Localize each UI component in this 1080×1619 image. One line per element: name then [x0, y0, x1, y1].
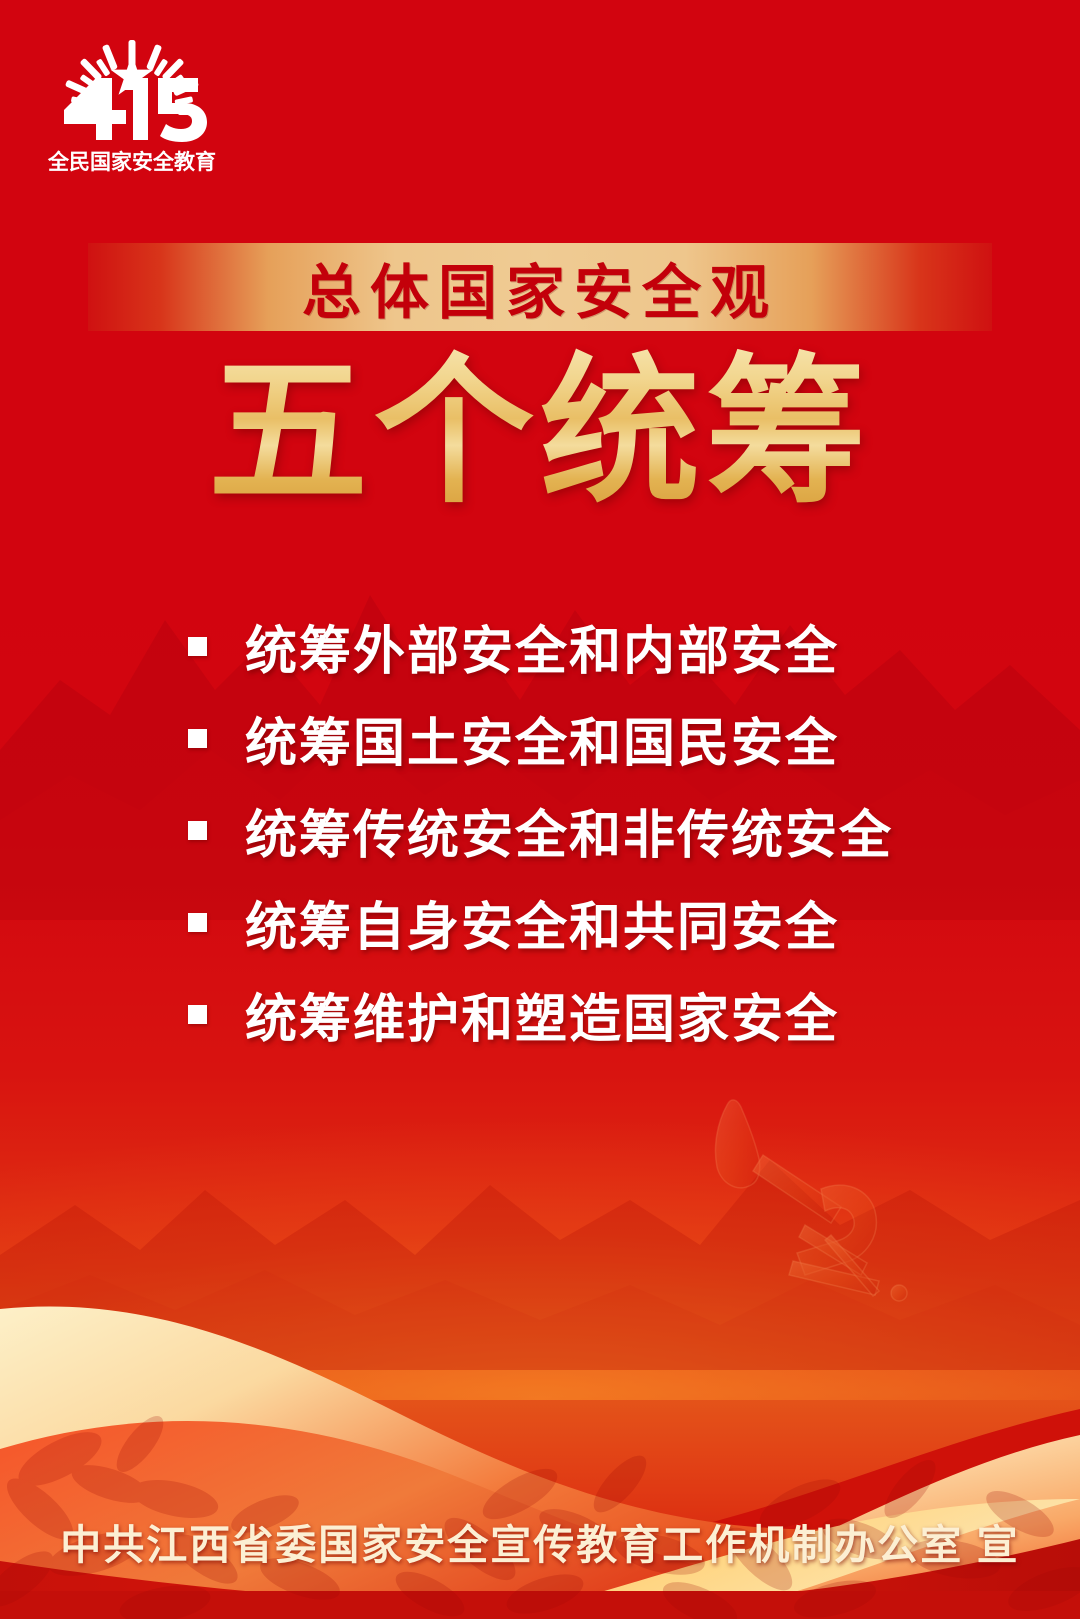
- list-item: 统筹维护和塑造国家安全: [188, 968, 948, 1060]
- square-bullet-icon: [188, 729, 207, 748]
- overall-national-security-banner: 总体国家安全观: [88, 243, 992, 331]
- list-item-label: 统筹外部安全和内部安全: [245, 609, 839, 684]
- list-item: 统筹传统安全和非传统安全: [188, 784, 948, 876]
- banner-title: 总体国家安全观: [302, 245, 778, 330]
- footer-issuer-label: 中共江西省委国家安全宣传教育工作机制办公室 宣: [60, 1522, 1019, 1568]
- bullet-list: 统筹外部安全和内部安全 统筹国土安全和国民安全 统筹传统安全和非传统安全 统筹自…: [188, 600, 948, 1060]
- numeral-5: [158, 78, 207, 142]
- square-bullet-icon: [188, 913, 207, 932]
- square-bullet-icon: [188, 637, 207, 656]
- list-item-label: 统筹国土安全和国民安全: [245, 701, 839, 776]
- poster-root: 全民国家安全教育 总体国家安全观 五个统筹 统筹外部安全和内部安全 统筹国土安全…: [0, 0, 1080, 1619]
- logo-caption: 全民国家安全教育: [47, 150, 216, 174]
- list-item-label: 统筹传统安全和非传统安全: [245, 793, 893, 868]
- list-item: 统筹自身安全和共同安全: [188, 876, 948, 968]
- numeral-1: [122, 78, 148, 140]
- square-bullet-icon: [188, 1005, 207, 1024]
- square-bullet-icon: [188, 821, 207, 840]
- footer: 中共江西省委国家安全宣传教育工作机制办公室 宣: [0, 1511, 1080, 1571]
- headline: 五个统筹: [0, 348, 1080, 516]
- list-item-label: 统筹维护和塑造国家安全: [245, 977, 839, 1052]
- list-item: 统筹外部安全和内部安全: [188, 600, 948, 692]
- national-security-education-logo: 全民国家安全教育: [34, 34, 230, 174]
- list-item: 统筹国土安全和国民安全: [188, 692, 948, 784]
- list-item-label: 统筹自身安全和共同安全: [245, 885, 839, 960]
- headline-title: 五个统筹: [208, 348, 872, 516]
